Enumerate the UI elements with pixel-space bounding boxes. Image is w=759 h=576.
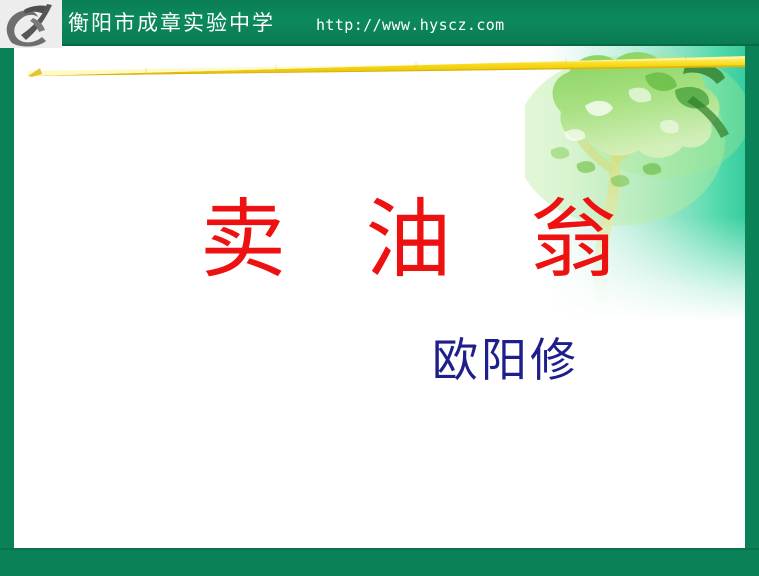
slide-canvas: [14, 46, 745, 548]
school-name-text: 衡阳市成章实验中学: [68, 10, 275, 36]
school-swoosh-logo: [0, 0, 62, 48]
slide-title: 卖 油 翁: [200, 186, 580, 294]
slide-frame-bottom: [0, 548, 759, 576]
yellow-bamboo-bar: [26, 54, 745, 80]
slide-author: 欧阳修: [432, 331, 579, 389]
slide-frame-right: [745, 44, 759, 576]
slide-frame-left: [0, 44, 14, 576]
presentation-slide: 衡阳市成章实验中学 http://www.hyscz.com 卖 油 翁 欧阳修: [0, 0, 759, 576]
school-website-url: http://www.hyscz.com: [316, 15, 505, 35]
